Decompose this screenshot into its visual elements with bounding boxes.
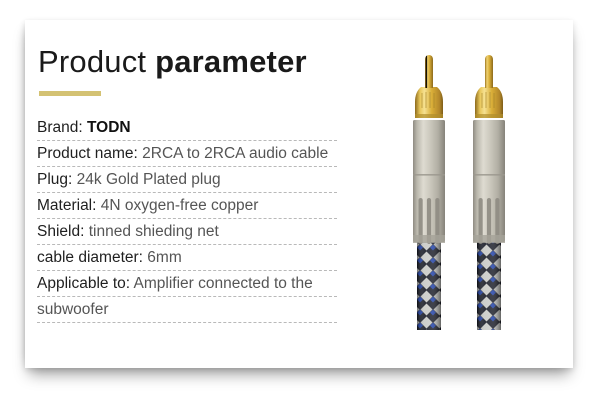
spec-label: cable diameter: [37, 249, 143, 266]
page-title: Product parameter [38, 44, 307, 80]
title-text: Product parameter [38, 44, 307, 80]
product-image-rca-cable [400, 30, 560, 330]
spec-row-applicable-to-continued: subwoofer [37, 297, 337, 323]
spec-value: 6mm [147, 249, 181, 266]
spec-row-product-name: Product name: 2RCA to 2RCA audio cable [37, 141, 337, 167]
spec-value: Amplifier connected to the [134, 275, 313, 292]
spec-row-material: Material: 4N oxygen-free copper [37, 193, 337, 219]
spec-row-shield: Shield: tinned shieding net [37, 219, 337, 245]
spec-row-applicable-to: Applicable to: Amplifier connected to th… [37, 271, 337, 297]
title-bold-part: parameter [155, 44, 307, 79]
rca-plug-left-icon [407, 30, 451, 330]
spec-value: 24k Gold Plated plug [77, 171, 221, 188]
spec-value: 4N oxygen-free copper [101, 197, 259, 214]
title-accent-rule [39, 91, 101, 96]
plug-center-pin-right [485, 55, 493, 88]
plug-center-pin-left [425, 55, 433, 88]
spec-label: Product name: [37, 145, 138, 162]
spec-row-plug: Plug: 24k Gold Plated plug [37, 167, 337, 193]
rca-plug-right-icon [467, 30, 511, 330]
spec-value: 2RCA to 2RCA audio cable [142, 145, 328, 162]
spec-label: Brand: [37, 119, 83, 136]
plug-collar-right [475, 87, 503, 118]
spec-row-brand: Brand: TODN [37, 115, 337, 141]
spec-label: Applicable to: [37, 275, 130, 292]
plug-collar-left [415, 87, 443, 118]
spec-label: Plug: [37, 171, 72, 188]
spec-row-cable-diameter: cable diameter: 6mm [37, 245, 337, 271]
screenshot-root: Product parameter Brand: TODN Product na… [0, 0, 600, 410]
spec-value: tinned shieding net [89, 223, 219, 240]
spec-label: Shield: [37, 223, 84, 240]
spec-value: subwoofer [37, 301, 109, 318]
spec-label: Material: [37, 197, 96, 214]
spec-list: Brand: TODN Product name: 2RCA to 2RCA a… [37, 115, 337, 323]
title-light-part: Product [38, 44, 155, 79]
spec-value: TODN [87, 119, 131, 136]
